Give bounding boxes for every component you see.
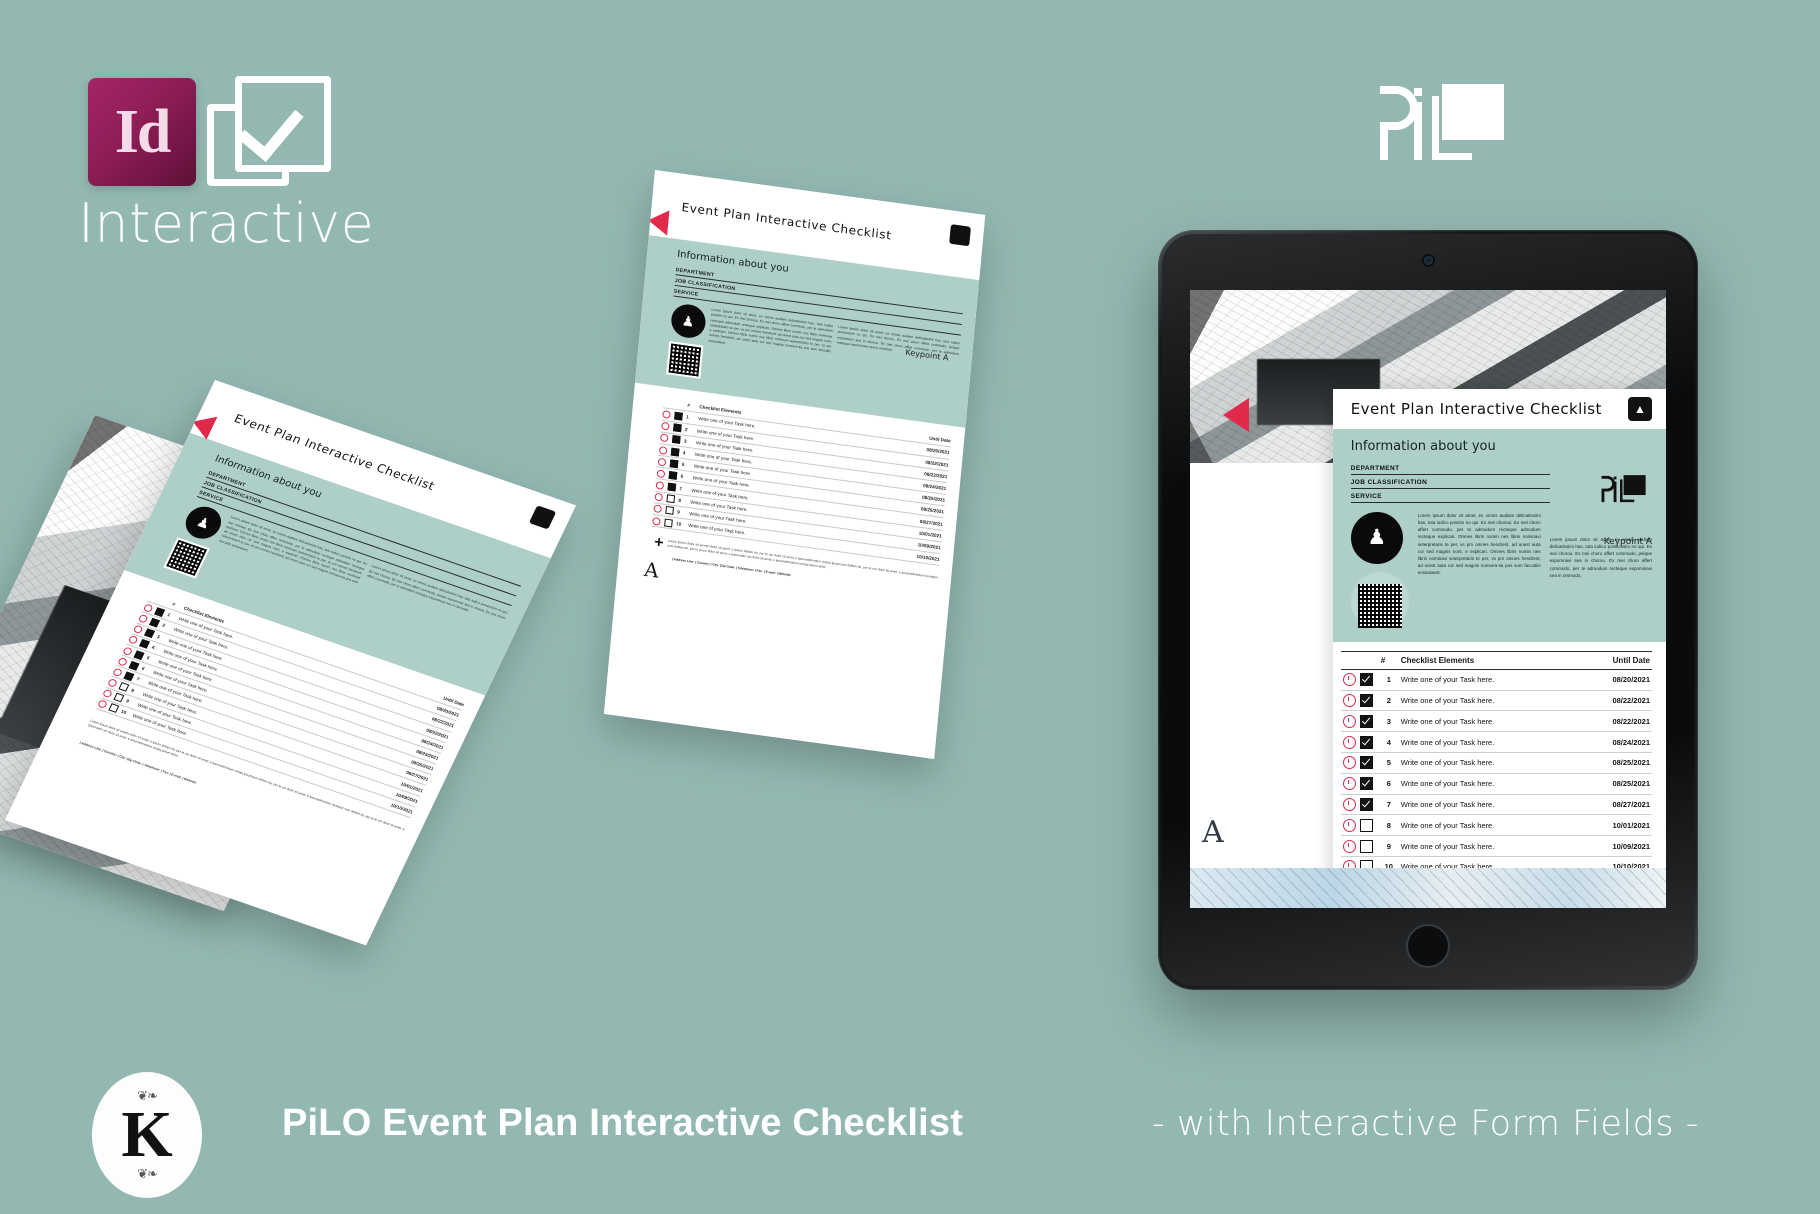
qr-code-icon [666, 341, 703, 379]
qr-code-wrapper [1351, 572, 1409, 630]
info-panel: Information about you DEPARTMENT JOB CLA… [1333, 429, 1666, 642]
checkbox-icon[interactable] [1360, 736, 1373, 749]
alarm-icon [117, 657, 128, 667]
pil-logo-small [1598, 473, 1652, 505]
checkbox-icon [129, 661, 140, 671]
checkbox-icon [124, 671, 135, 681]
checklist-table: # Checklist Elements Until Date 1 Write … [1341, 651, 1652, 878]
row-date[interactable]: 10/09/2021 [1576, 836, 1652, 857]
brochure-mockup: Event Plan Interactive Checklist Informa… [95, 165, 975, 925]
table-row[interactable]: 7 Write one of your Task here. 08/27/202… [1341, 794, 1652, 815]
pil-logo [1372, 78, 1520, 168]
checkbox-icon [154, 607, 165, 617]
brochure-back-title: Event Plan Interactive Checklist [681, 200, 892, 242]
table-row[interactable]: 9 Write one of your Task here. 10/09/202… [1341, 836, 1652, 857]
checklist-table-body: 1 Write one of your Task here. 08/20/202… [1341, 669, 1652, 877]
col-number: # [1379, 651, 1399, 669]
row-controls [1341, 815, 1379, 836]
k-monogram-letter: K [121, 1102, 172, 1168]
row-task[interactable]: Write one of your Task here. [1399, 753, 1577, 774]
checkbox-icon [144, 629, 155, 639]
checkbox-icon [108, 704, 119, 714]
alarm-icon[interactable] [1343, 715, 1356, 728]
footer-photo-strip [1190, 868, 1666, 908]
checkbox-icon[interactable] [1360, 777, 1373, 790]
row-task[interactable]: Write one of your Task here. [1399, 732, 1577, 753]
qr-code-icon[interactable] [1358, 584, 1402, 628]
row-number: 4 [1379, 732, 1399, 753]
alarm-icon[interactable] [1343, 840, 1356, 853]
alarm-icon[interactable] [1343, 819, 1356, 832]
alarm-icon[interactable] [1343, 756, 1356, 769]
checkbox-icon [134, 650, 145, 660]
section-heading: Information about you [1351, 439, 1652, 454]
row-task[interactable]: Write one of your Task here. [1399, 794, 1577, 815]
checklist-table-head: # Checklist Elements Until Date [1341, 651, 1652, 669]
row-date[interactable]: 08/22/2021 [1576, 690, 1652, 711]
row-controls [1341, 732, 1379, 753]
brochure-back-keypoint-body: Lorem ipsum dolor sit amet, ex omnis aud… [832, 325, 960, 413]
camera-icon [1424, 256, 1433, 265]
row-controls [1341, 836, 1379, 857]
table-header-row: # Checklist Elements Until Date [1341, 651, 1652, 669]
checkbox-icon[interactable] [1360, 819, 1373, 832]
row-number: 2 [1379, 690, 1399, 711]
col-elements: Checklist Elements [1399, 651, 1577, 669]
document-card: Event Plan Interactive Checklist ▲ Infor… [1333, 389, 1666, 908]
alarm-icon [138, 614, 149, 624]
row-task[interactable]: Write one of your Task here. [1399, 836, 1577, 857]
checkbox-icon [119, 682, 130, 692]
alarm-icon[interactable] [1343, 777, 1356, 790]
alarm-icon [97, 700, 108, 710]
col-number: # [172, 602, 182, 609]
red-triangle-icon [1223, 398, 1249, 432]
brand-title: PiLO Event Plan Interactive Checklist [282, 1102, 963, 1145]
row-task[interactable]: Write one of your Task here. [1399, 669, 1577, 690]
row-controls [1341, 711, 1379, 732]
row-task[interactable]: Write one of your Task here. [1399, 711, 1577, 732]
row-task[interactable]: Write one of your Task here. [1399, 773, 1577, 794]
alarm-icon [112, 667, 123, 677]
checklist-page: Event Plan Interactive Checklist ▲ Infor… [1190, 290, 1666, 908]
identity-column: ♟ [1351, 512, 1409, 630]
row-controls [1341, 669, 1379, 690]
row-date[interactable]: 08/25/2021 [1576, 773, 1652, 794]
checkbox-icon[interactable] [1360, 840, 1373, 853]
checklist-table-wrapper: # Checklist Elements Until Date 1 Write … [1333, 642, 1666, 878]
row-number: 1 [1379, 669, 1399, 690]
col-controls [1341, 651, 1379, 669]
row-date[interactable]: 10/01/2021 [1576, 815, 1652, 836]
row-number: 7 [1379, 794, 1399, 815]
alarm-icon[interactable] [1343, 673, 1356, 686]
checkbox-icon[interactable] [1360, 756, 1373, 769]
table-row[interactable]: 1 Write one of your Task here. 08/20/202… [1341, 669, 1652, 690]
row-controls [1341, 773, 1379, 794]
row-number: 8 [1379, 815, 1399, 836]
alarm-icon[interactable] [1343, 694, 1356, 707]
alarm-icon [102, 689, 113, 699]
keypoint-body-text: Lorem ipsum dolor sit amet, ex omnis aud… [1550, 512, 1652, 630]
row-task[interactable]: Write one of your Task here. [1399, 815, 1577, 836]
checkbox-icon[interactable] [1360, 694, 1373, 707]
document-titlebar: Event Plan Interactive Checklist ▲ [1333, 389, 1666, 429]
alarm-icon [107, 678, 118, 688]
col-until-date: Until Date [1576, 651, 1652, 669]
row-number: 3 [1379, 711, 1399, 732]
k-monogram-logo: ❦❧ K ❦❧ [92, 1072, 202, 1198]
tablet-screen[interactable]: Event Plan Interactive Checklist ▲ Infor… [1190, 290, 1666, 908]
keypoint-heading: Keypoint A [1604, 537, 1652, 547]
table-row[interactable]: 5 Write one of your Task here. 08/25/202… [1341, 753, 1652, 774]
red-triangle-icon [647, 208, 669, 236]
row-number: 6 [1379, 773, 1399, 794]
table-row[interactable]: 8 Write one of your Task here. 10/01/202… [1341, 815, 1652, 836]
checkbox-icon[interactable] [1360, 798, 1373, 811]
brand-tagline: - with Interactive Form Fields - [1152, 1104, 1699, 1144]
flourish-bottom-icon: ❦❧ [137, 1166, 157, 1182]
table-row[interactable]: 4 Write one of your Task here. 08/24/202… [1341, 732, 1652, 753]
alarm-icon [133, 625, 144, 635]
row-number: 5 [1379, 753, 1399, 774]
info-body-text: Lorem ipsum dolor sit amet, ex omnis aud… [1418, 512, 1541, 630]
row-controls [1341, 690, 1379, 711]
row-date[interactable]: 08/24/2021 [1576, 732, 1652, 753]
field-service[interactable]: SERVICE [1351, 489, 1550, 503]
poster-canvas: Id Interactive Event Plan Intera [0, 0, 1820, 1214]
alarm-icon[interactable] [1343, 798, 1356, 811]
row-date[interactable]: 08/20/2021 [1576, 669, 1652, 690]
checkbox-icon[interactable] [1360, 673, 1373, 686]
row-date[interactable]: 08/27/2021 [1576, 794, 1652, 815]
ticket-badge-icon: ▲ [1628, 397, 1652, 421]
checkbox-icon [139, 639, 150, 649]
row-date[interactable]: 08/25/2021 [1576, 753, 1652, 774]
brochure-back-body: Lorem ipsum dolor sit amet, ex omnis aud… [705, 308, 833, 396]
tablet-device: Event Plan Interactive Checklist ▲ Infor… [1158, 230, 1698, 990]
checkbox-icon [149, 618, 160, 628]
row-number: 9 [1379, 836, 1399, 857]
alarm-icon [128, 635, 139, 645]
row-controls [1341, 794, 1379, 815]
person-icon: ♟ [670, 302, 707, 340]
home-button-icon[interactable] [1406, 924, 1450, 968]
page-title: Event Plan Interactive Checklist [1351, 400, 1602, 418]
brochure-back-page: Event Plan Interactive Checklist Informa… [604, 170, 985, 759]
alarm-icon [143, 603, 154, 613]
flourish-top-icon: ❦❧ [137, 1088, 157, 1104]
table-row[interactable]: 3 Write one of your Task here. 08/22/202… [1341, 711, 1652, 732]
person-icon: ♟ [1351, 512, 1403, 564]
brochure-back-doc: Event Plan Interactive Checklist Informa… [604, 170, 985, 759]
indesign-label: Id [115, 101, 170, 163]
alarm-icon [123, 646, 134, 656]
field-department[interactable]: DEPARTMENT [1351, 461, 1550, 475]
alarm-icon[interactable] [1343, 736, 1356, 749]
table-row[interactable]: 2 Write one of your Task here. 08/22/202… [1341, 690, 1652, 711]
checkbox-icon [113, 693, 124, 703]
big-letter-a: A [1202, 815, 1224, 850]
checkbox-icon[interactable] [1360, 715, 1373, 728]
field-job-classification[interactable]: JOB CLASSIFICATION [1351, 475, 1550, 489]
ticket-badge-icon [949, 224, 971, 246]
row-task[interactable]: Write one of your Task here. [1399, 690, 1577, 711]
row-controls [1341, 753, 1379, 774]
table-row[interactable]: 6 Write one of your Task here. 08/25/202… [1341, 773, 1652, 794]
row-date[interactable]: 08/22/2021 [1576, 711, 1652, 732]
